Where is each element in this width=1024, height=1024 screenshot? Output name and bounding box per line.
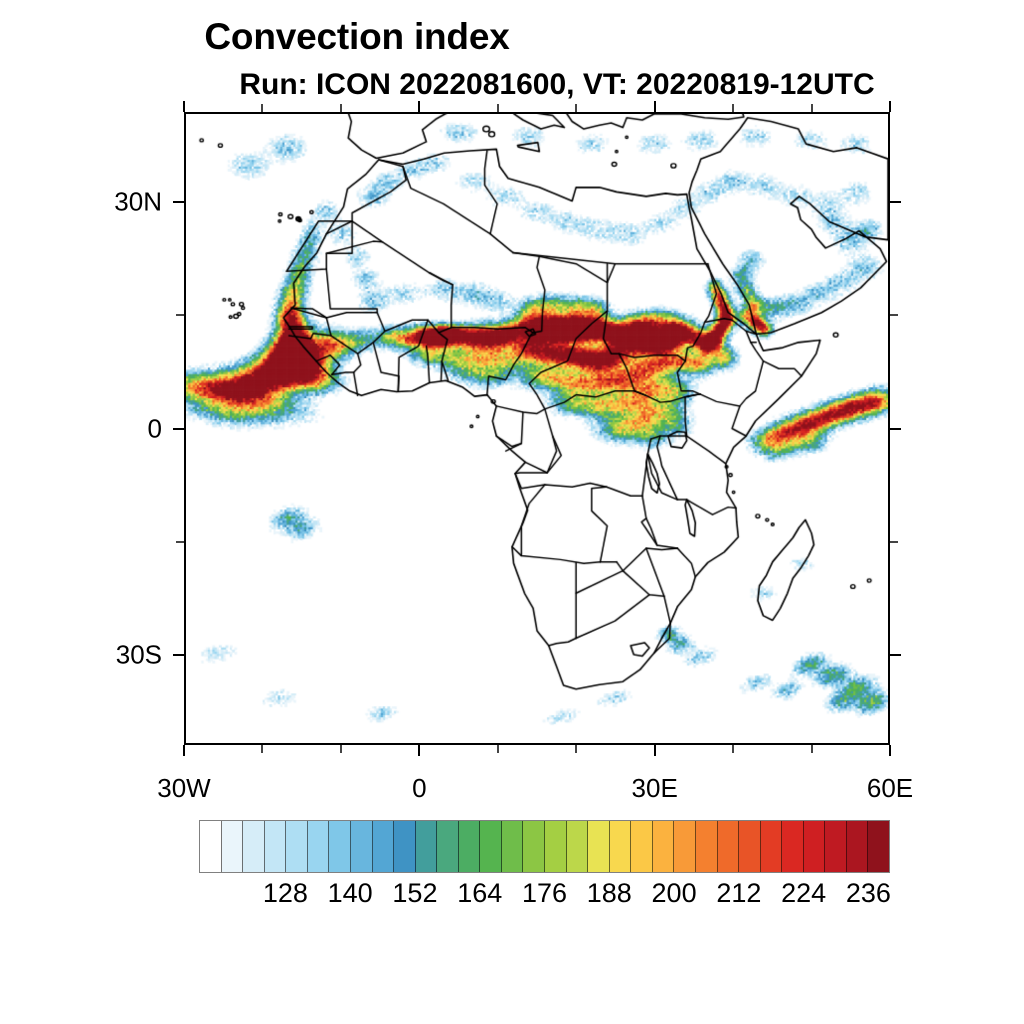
y-tick-2 bbox=[173, 428, 184, 430]
x-axis-label-0: 0 bbox=[412, 773, 426, 804]
colorbar-tick-label-200: 200 bbox=[652, 878, 697, 909]
colorbar-tick-label-188: 188 bbox=[587, 878, 632, 909]
colorbar-cell-25 bbox=[739, 821, 761, 872]
y-axis-label-30S: 30S bbox=[0, 639, 162, 670]
x-tick-2 bbox=[340, 745, 342, 753]
colorbar-tick-label-128: 128 bbox=[263, 878, 308, 909]
colorbar-cell-14 bbox=[502, 821, 524, 872]
x-tick-1 bbox=[261, 745, 263, 753]
x-tick-5 bbox=[575, 745, 577, 753]
colorbar-cell-29 bbox=[825, 821, 847, 872]
y-tick-1 bbox=[176, 314, 184, 316]
x-tick-top-1 bbox=[261, 104, 263, 112]
y-tick-right-4 bbox=[890, 654, 901, 656]
colorbar-cell-30 bbox=[847, 821, 869, 872]
colorbar-cell-13 bbox=[480, 821, 502, 872]
x-tick-4 bbox=[497, 745, 499, 753]
colorbar[interactable]: 128140152164176188200212224236 bbox=[199, 820, 890, 873]
colorbar-tick-label-176: 176 bbox=[522, 878, 567, 909]
x-tick-top-4 bbox=[497, 104, 499, 112]
colorbar-cell-8 bbox=[373, 821, 395, 872]
x-axis-label-30E: 30E bbox=[632, 773, 678, 804]
convection-index-figure: Convection index Run: ICON 2022081600, V… bbox=[0, 0, 1024, 1024]
colorbar-tick-label-140: 140 bbox=[328, 878, 373, 909]
x-tick-7 bbox=[732, 745, 734, 753]
colorbar-cell-1 bbox=[222, 821, 244, 872]
colorbar-cell-23 bbox=[696, 821, 718, 872]
x-tick-0 bbox=[183, 745, 185, 756]
colorbar-tick-label-212: 212 bbox=[716, 878, 761, 909]
colorbar-cell-24 bbox=[718, 821, 740, 872]
colorbar-cell-4 bbox=[286, 821, 308, 872]
y-axis-label-0: 0 bbox=[0, 413, 162, 444]
x-tick-top-7 bbox=[732, 104, 734, 112]
colorbar-cell-26 bbox=[761, 821, 783, 872]
x-tick-top-6 bbox=[654, 101, 656, 112]
map-plot-area[interactable] bbox=[184, 112, 890, 745]
y-tick-right-2 bbox=[890, 428, 901, 430]
colorbar-cell-12 bbox=[459, 821, 481, 872]
x-tick-top-9 bbox=[889, 101, 891, 112]
colorbar-tick-label-152: 152 bbox=[392, 878, 437, 909]
colorbar-tick-label-164: 164 bbox=[457, 878, 502, 909]
x-tick-top-3 bbox=[418, 101, 420, 112]
x-tick-top-8 bbox=[811, 104, 813, 112]
convection-index-map bbox=[186, 114, 888, 743]
x-tick-top-5 bbox=[575, 104, 577, 112]
colorbar-cell-0 bbox=[200, 821, 222, 872]
colorbar-tick-label-224: 224 bbox=[781, 878, 826, 909]
x-axis-label-30W: 30W bbox=[157, 773, 210, 804]
y-tick-3 bbox=[176, 541, 184, 543]
colorbar-cell-18 bbox=[588, 821, 610, 872]
y-tick-right-1 bbox=[890, 314, 898, 316]
y-axis-label-30N: 30N bbox=[0, 187, 162, 218]
colorbar-cell-6 bbox=[329, 821, 351, 872]
x-tick-8 bbox=[811, 745, 813, 753]
run-valid-time-text: Run: ICON 2022081600, VT: 20220819-12UTC bbox=[239, 68, 874, 102]
x-tick-9 bbox=[889, 745, 891, 756]
colorbar-cell-5 bbox=[308, 821, 330, 872]
colorbar-tick-label-236: 236 bbox=[846, 878, 891, 909]
colorbar-cell-3 bbox=[265, 821, 287, 872]
x-tick-3 bbox=[418, 745, 420, 756]
colorbar-cell-19 bbox=[610, 821, 632, 872]
y-tick-4 bbox=[173, 654, 184, 656]
colorbar-cell-17 bbox=[567, 821, 589, 872]
y-tick-0 bbox=[173, 201, 184, 203]
colorbar-cell-21 bbox=[653, 821, 675, 872]
y-tick-right-0 bbox=[890, 201, 901, 203]
page-title: Convection index bbox=[0, 16, 1024, 58]
colorbar-cell-31 bbox=[868, 821, 889, 872]
x-axis-label-60E: 60E bbox=[867, 773, 913, 804]
run-valid-time-subtitle: Run: ICON 2022081600, VT: 20220819-12UTC bbox=[0, 68, 1024, 102]
colorbar-cell-27 bbox=[782, 821, 804, 872]
colorbar-cell-11 bbox=[437, 821, 459, 872]
colorbar-cell-15 bbox=[523, 821, 545, 872]
y-tick-right-3 bbox=[890, 541, 898, 543]
x-tick-top-2 bbox=[340, 104, 342, 112]
page-title-text: Convection index bbox=[204, 16, 509, 58]
colorbar-cell-9 bbox=[394, 821, 416, 872]
colorbar-cell-7 bbox=[351, 821, 373, 872]
colorbar-cell-28 bbox=[804, 821, 826, 872]
colorbar-cells[interactable] bbox=[199, 820, 890, 873]
colorbar-cell-16 bbox=[545, 821, 567, 872]
colorbar-cell-2 bbox=[243, 821, 265, 872]
x-tick-6 bbox=[654, 745, 656, 756]
colorbar-cell-20 bbox=[631, 821, 653, 872]
colorbar-cell-22 bbox=[674, 821, 696, 872]
x-tick-top-0 bbox=[183, 101, 185, 112]
colorbar-cell-10 bbox=[416, 821, 438, 872]
